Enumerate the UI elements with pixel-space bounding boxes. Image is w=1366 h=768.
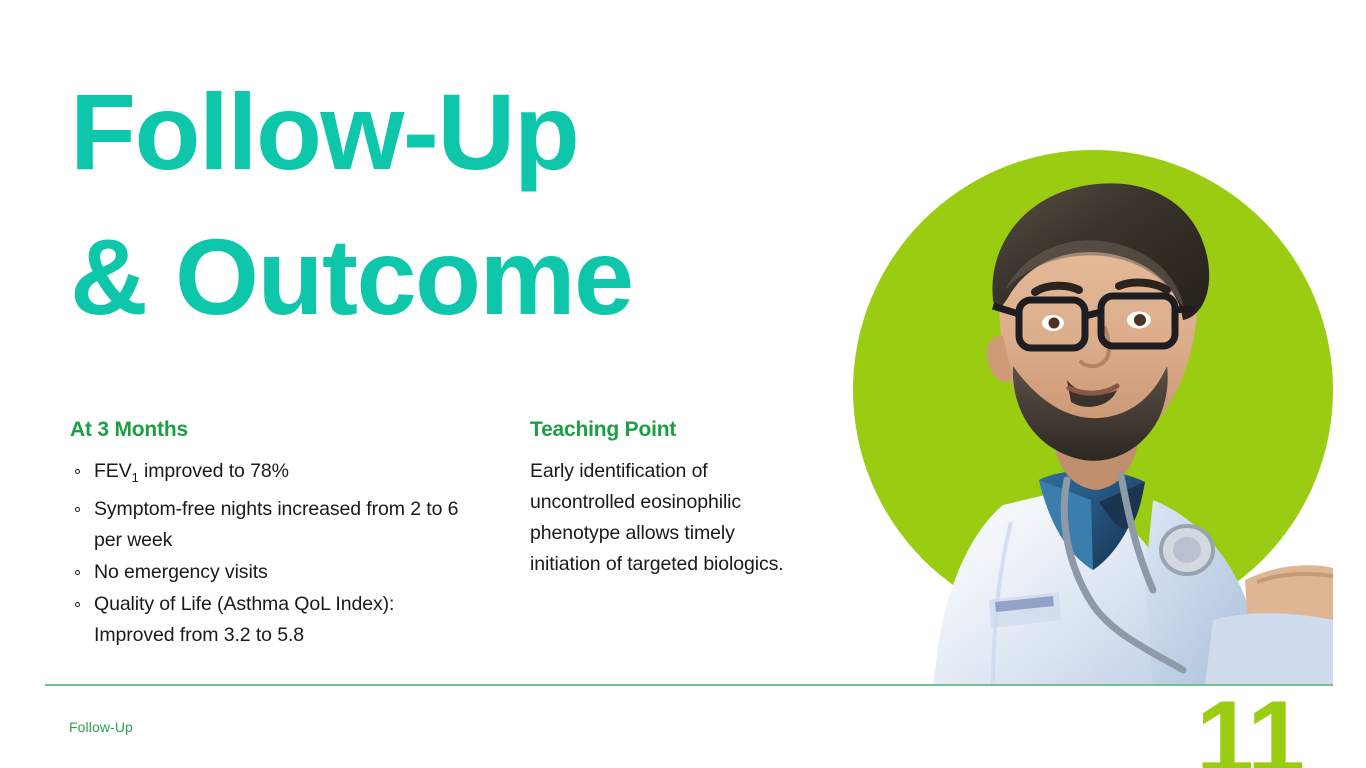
slide: Follow-Up & Outcome At 3 Months FEV1 imp… [0,0,1366,768]
slide-visual [853,150,1333,685]
doctor-portrait-photo [853,150,1333,685]
column-heading-at-3-months: At 3 Months [70,418,470,442]
list-item: Quality of Life (Asthma QoL Index): Impr… [70,589,470,651]
footer-divider [45,684,1333,686]
teaching-point-paragraph: Early identification of uncontrolled eos… [530,456,790,580]
at-3-months-bullet-list: FEV1 improved to 78% Symptom-free nights… [70,456,470,651]
content-columns: At 3 Months FEV1 improved to 78% Symptom… [70,418,830,652]
slide-title: Follow-Up & Outcome [70,60,860,349]
bullet-text-post: improved to 78% [139,460,289,482]
list-item: Symptom-free nights increased from 2 to … [70,494,470,556]
list-item: No emergency visits [70,557,470,588]
list-item: FEV1 improved to 78% [70,456,470,493]
column-heading-teaching-point: Teaching Point [530,418,790,442]
column-at-3-months: At 3 Months FEV1 improved to 78% Symptom… [70,418,470,652]
bullet-text-pre: FEV [94,460,132,482]
footer-section-label: Follow-Up [69,719,133,735]
column-teaching-point: Teaching Point Early identification of u… [530,418,790,652]
slide-page-number: 11 [1196,686,1304,768]
bullet-text-subscript: 1 [132,470,139,485]
